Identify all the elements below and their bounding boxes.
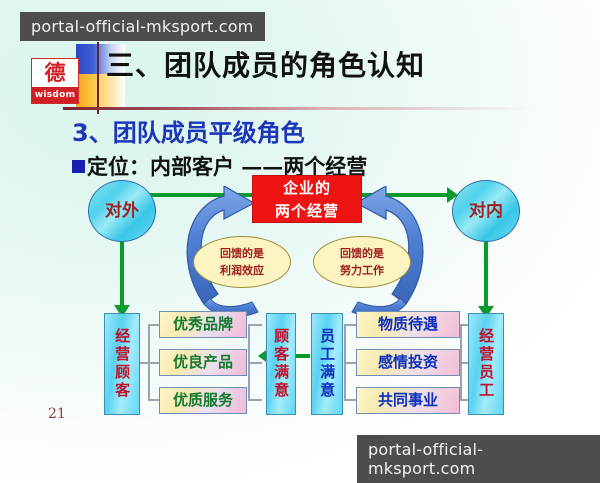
watermark-top: portal-official-mksport.com xyxy=(20,12,265,41)
logo-red-badge: 德 wisdom xyxy=(31,58,79,104)
box-manage-customers: 经营顾客 xyxy=(104,313,140,415)
bracket-mid-branch-1 xyxy=(248,324,262,326)
box-excellent-brand: 优秀品牌 xyxy=(159,311,247,338)
box-manage-customers-label: 经营顾客 xyxy=(114,328,130,400)
box-material-treatment: 物质待遇 xyxy=(356,311,460,338)
circle-internal: 对内 xyxy=(452,180,520,242)
center-box-line2: 两个经营 xyxy=(253,200,361,223)
page-title: 三、团队成员的角色认知 xyxy=(106,46,506,86)
page-number: 21 xyxy=(48,406,66,422)
circle-external: 对外 xyxy=(88,180,156,242)
watermark-bottom: portal-official-mksport.com xyxy=(357,435,600,483)
center-box-line1: 企业的 xyxy=(253,177,361,200)
bracket-mid-branch-2 xyxy=(248,362,262,364)
box-manage-employees-label: 经营员工 xyxy=(478,328,494,400)
feedback-oval-work: 回馈的是 努力工作 xyxy=(313,236,411,288)
logo-wordmark: wisdom xyxy=(32,87,78,103)
box-shared-cause: 共同事业 xyxy=(356,387,460,414)
feedback-profit-line1: 回馈的是 xyxy=(194,245,290,262)
feedback-profit-line2: 利润效应 xyxy=(194,262,290,279)
box-customer-satisfaction-label: 顾客满意 xyxy=(273,328,289,400)
box-emotional-investment: 感情投资 xyxy=(356,349,460,376)
section-subtitle: 3、团队成员平级角色 xyxy=(72,117,492,149)
box-employee-satisfaction-label: 员工满意 xyxy=(319,328,335,400)
bracket-mid-branch-3 xyxy=(248,399,262,401)
square-bullet-icon xyxy=(72,160,85,173)
slide-canvas: 德 wisdom 三、团队成员的角色认知 3、团队成员平级角色 定位：内部客户 … xyxy=(0,0,600,480)
green-line-right-down xyxy=(484,239,488,314)
box-employee-satisfaction: 员工满意 xyxy=(311,313,343,415)
box-quality-service: 优质服务 xyxy=(159,387,247,414)
feedback-work-line1: 回馈的是 xyxy=(314,245,410,262)
box-manage-employees: 经营员工 xyxy=(468,313,504,415)
center-red-box: 企业的 两个经营 xyxy=(252,175,362,223)
feedback-oval-profit: 回馈的是 利润效应 xyxy=(193,236,291,288)
title-divider xyxy=(63,107,533,110)
feedback-work-line2: 努力工作 xyxy=(314,262,410,279)
logo-vertical-rule xyxy=(97,42,99,114)
bracket-left-branch-2 xyxy=(140,362,160,364)
box-quality-product: 优良产品 xyxy=(159,349,247,376)
logo-character: 德 xyxy=(32,59,78,87)
box-customer-satisfaction: 顾客满意 xyxy=(266,313,296,415)
